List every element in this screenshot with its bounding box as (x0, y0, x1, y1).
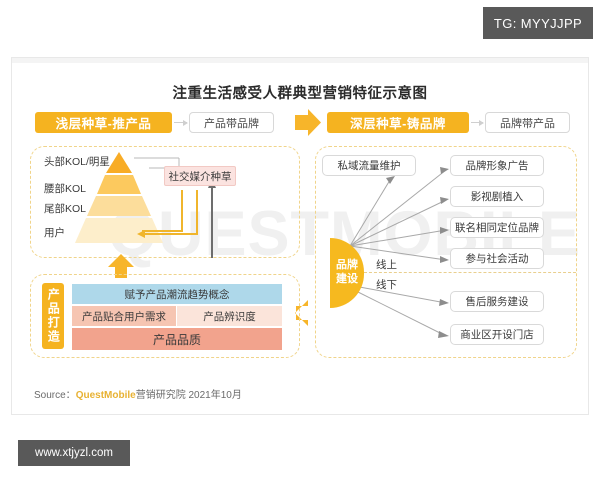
source-line: Source：QuestMobile营销研究院 2021年10月 (34, 386, 242, 401)
stage1-connector (174, 122, 187, 123)
pyramid-label-3: 用户 (44, 225, 65, 240)
product-row-0-cell-0[interactable]: 赋予产品潮流趋势概念 (72, 284, 282, 304)
stage1-tag[interactable]: 产品带品牌 (189, 112, 274, 133)
pyramid-label-2: 尾部KOL (44, 201, 86, 216)
brand-offline-item-0[interactable]: 售后服务建设 (450, 291, 544, 312)
product-row-1-cell-1[interactable]: 产品辨识度 (177, 306, 282, 326)
product-row-2-cell-0[interactable]: 产品品质 (72, 328, 282, 350)
card-top-strip (12, 58, 588, 63)
stage-transition-arrow (295, 109, 321, 136)
brand-offline-item-1[interactable]: 商业区开设门店 (450, 324, 544, 345)
offline-label: 线下 (376, 277, 397, 292)
online-label: 线上 (376, 257, 397, 272)
product-tab[interactable]: 产品打造 (42, 283, 64, 349)
brand-online-item-1[interactable]: 品牌形象广告 (450, 155, 544, 176)
product-row-1-cell-0[interactable]: 产品贴合用户需求 (72, 306, 176, 326)
pyramid-label-0: 头部KOL/明星 (44, 154, 110, 169)
brand-hub-label: 品牌建设 (336, 259, 358, 287)
infographic-card: QUESTMOBILE 注重生活感受人群典型营销特征示意图 浅层种草-推产品 产… (11, 57, 589, 415)
tg-badge: TG: MYYJJPP (483, 7, 593, 39)
page-title: 注重生活感受人群典型营销特征示意图 (12, 82, 588, 103)
brand-online-item-4[interactable]: 参与社会活动 (450, 248, 544, 269)
source-brand: QuestMobile (76, 390, 136, 401)
stage2-connector (471, 122, 483, 123)
site-watermark-badge: www.xtjyzl.com (18, 440, 130, 466)
product-tab-label: 产品打造 (47, 288, 60, 344)
stage1-pill[interactable]: 浅层种草-推产品 (35, 112, 172, 133)
screenshot-root: TG: MYYJJPP QUESTMOBILE 注重生活感受人群典型营销特征示意… (0, 0, 600, 480)
brand-online-item-2[interactable]: 影视剧植入 (450, 186, 544, 207)
social-media-box[interactable]: 社交媒介种草 (164, 166, 236, 186)
pyramid-label-1: 腰部KOL (44, 181, 86, 196)
brand-online-item-0[interactable]: 私域流量维护 (322, 155, 416, 176)
source-suffix: 营销研究院 2021年10月 (136, 390, 242, 401)
source-prefix: Source： (34, 390, 76, 401)
online-offline-divider (364, 272, 576, 273)
stage2-tag[interactable]: 品牌带产品 (485, 112, 570, 133)
stage2-pill[interactable]: 深层种草-铸品牌 (327, 112, 469, 133)
brand-online-item-3[interactable]: 联名相同定位品牌 (450, 217, 544, 238)
